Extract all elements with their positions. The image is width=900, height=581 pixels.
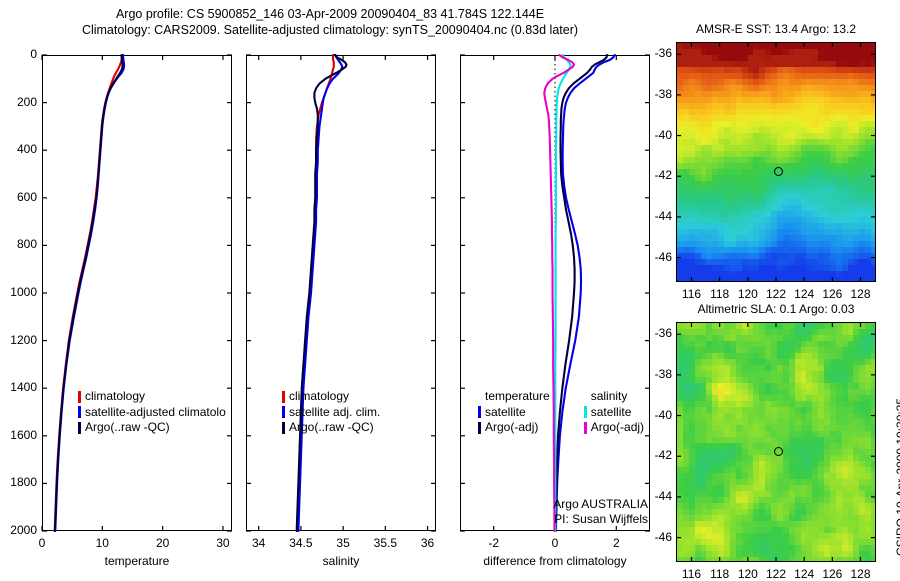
- xaxis-label-difference: difference from climatology: [460, 554, 650, 568]
- argo-float-marker-sst: [774, 167, 783, 176]
- xtick-salinity-2: 35: [336, 536, 349, 550]
- plot-frame-temperature: [42, 55, 232, 531]
- legend-label: satellite: [591, 405, 632, 421]
- figure-title: Argo profile: CS 5900852_146 03-Apr-2009…: [0, 6, 660, 38]
- map-xtick-sst-4: 124: [794, 287, 814, 301]
- map-xtick-sla-5: 126: [822, 567, 842, 581]
- argo-profile-figure: Argo profile: CS 5900852_146 03-Apr-2009…: [0, 0, 900, 580]
- map-xtick-sst-2: 120: [738, 287, 758, 301]
- map-xtick-sst-0: 116: [682, 287, 701, 301]
- xtick-salinity-4: 36: [421, 536, 434, 550]
- map-xtick-sst-5: 126: [822, 287, 842, 301]
- legend-label: satellite adj. clim.: [289, 405, 380, 421]
- xtick-difference-2: 2: [613, 536, 620, 550]
- map-ytick-sla-0: -36: [644, 326, 672, 340]
- xaxis-label-salinity: salinity: [246, 554, 436, 568]
- legend-entry-difference-2-0: satellite: [584, 405, 644, 421]
- legend-entry-temperature-0: climatology: [78, 389, 226, 405]
- map-xtick-sla-4: 124: [794, 567, 814, 581]
- legend-entry-salinity-0: climatology: [282, 389, 380, 405]
- legend-swatch-icon: [478, 422, 481, 434]
- xtick-difference-1: 0: [552, 536, 559, 550]
- legend-entry-temperature-1: satellite-adjusted climatolo: [78, 405, 226, 421]
- map-xtick-sla-1: 118: [710, 567, 729, 581]
- map-xtick-sla-3: 122: [766, 567, 786, 581]
- legend-entry-difference-1-1: Argo(-adj): [478, 420, 550, 436]
- map-ytick-sla-2: -40: [644, 408, 672, 422]
- legend-label: climatology: [289, 389, 349, 405]
- xtick-salinity-1: 34.5: [289, 536, 312, 550]
- legend-swatch-icon: [584, 422, 587, 434]
- map-frame-sst: [676, 42, 876, 282]
- figure-title-line2: Climatology: CARS2009. Satellite-adjuste…: [82, 23, 578, 37]
- ytick-depth-1: 200: [0, 95, 37, 109]
- figure-title-line1: Argo profile: CS 5900852_146 03-Apr-2009…: [116, 7, 544, 21]
- xtick-difference-0: -2: [488, 536, 499, 550]
- xtick-temperature-3: 30: [216, 536, 229, 550]
- heatmap-sst: [677, 43, 875, 281]
- legend-entry-temperature-2: Argo(..raw -QC): [78, 420, 226, 436]
- legend-entry-salinity-2: Argo(..raw -QC): [282, 420, 380, 436]
- ytick-depth-7: 1400: [0, 380, 37, 394]
- csiro-timestamp: CSIRO 10-Apr-2009 10:30:35: [894, 398, 900, 556]
- attribution-line2: PI: Susan Wijffels: [420, 512, 648, 527]
- map-ytick-sla-3: -42: [644, 448, 672, 462]
- ytick-depth-4: 800: [0, 237, 37, 251]
- ytick-depth-2: 400: [0, 142, 37, 156]
- ytick-depth-10: 2000: [0, 523, 37, 537]
- attribution-line1: Argo AUSTRALIA: [420, 497, 648, 512]
- xtick-temperature-2: 20: [156, 536, 169, 550]
- map-xtick-sla-6: 128: [850, 567, 870, 581]
- legend-swatch-icon: [78, 406, 81, 418]
- xtick-salinity-0: 34: [252, 536, 265, 550]
- legend-swatch-icon: [478, 406, 481, 418]
- legend-label: Argo(-adj): [591, 420, 644, 436]
- xaxis-label-temperature: temperature: [42, 554, 232, 568]
- map-ytick-sst-5: -46: [644, 250, 672, 264]
- map-xtick-sla-0: 116: [682, 567, 701, 581]
- legend-swatch-icon: [78, 422, 81, 434]
- legend-label: Argo(..raw -QC): [85, 420, 170, 436]
- map-ytick-sst-2: -40: [644, 128, 672, 142]
- legend-swatch-icon: [584, 406, 587, 418]
- legend-swatch-icon: [78, 391, 81, 403]
- legend-column-1: temperaturesatelliteArgo(-adj): [478, 389, 550, 436]
- map-ytick-sst-4: -44: [644, 209, 672, 223]
- legend-label: Argo(-adj): [485, 420, 538, 436]
- legend-header-2: salinity: [584, 389, 644, 405]
- legend-swatch-icon: [282, 422, 285, 434]
- legend-column-2: salinitysatelliteArgo(-adj): [584, 389, 644, 436]
- map-xtick-sst-3: 122: [766, 287, 786, 301]
- attribution: Argo AUSTRALIAPI: Susan Wijffels: [420, 497, 648, 527]
- map-ytick-sst-0: -36: [644, 46, 672, 60]
- map-ytick-sla-4: -44: [644, 489, 672, 503]
- legend-salinity: climatologysatellite adj. clim.Argo(..ra…: [282, 389, 380, 436]
- legend-label: satellite-adjusted climatolo: [85, 405, 226, 421]
- map-title-sla: Altimetric SLA: 0.1 Argo: 0.03: [616, 302, 900, 316]
- map-frame-sla: [676, 322, 876, 562]
- legend-label: satellite: [485, 405, 526, 421]
- map-ytick-sla-1: -38: [644, 367, 672, 381]
- legend-difference: temperaturesatelliteArgo(-adj)salinitysa…: [478, 389, 644, 436]
- legend-entry-difference-2-1: Argo(-adj): [584, 420, 644, 436]
- map-xtick-sst-1: 118: [710, 287, 729, 301]
- heatmap-sla: [677, 323, 875, 561]
- legend-swatch-icon: [282, 391, 285, 403]
- map-xtick-sla-2: 120: [738, 567, 758, 581]
- legend-label: climatology: [85, 389, 145, 405]
- ytick-depth-8: 1600: [0, 428, 37, 442]
- xtick-salinity-3: 35.5: [374, 536, 397, 550]
- legend-entry-salinity-1: satellite adj. clim.: [282, 405, 380, 421]
- ytick-depth-6: 1200: [0, 333, 37, 347]
- ytick-depth-3: 600: [0, 190, 37, 204]
- plot-frame-salinity: [246, 55, 436, 531]
- legend-entry-difference-1-0: satellite: [478, 405, 550, 421]
- argo-float-marker-sla: [774, 447, 783, 456]
- xtick-temperature-1: 10: [96, 536, 109, 550]
- ytick-depth-9: 1800: [0, 475, 37, 489]
- ytick-depth-0: 0: [0, 47, 37, 61]
- legend-swatch-icon: [282, 406, 285, 418]
- map-ytick-sst-3: -42: [644, 168, 672, 182]
- legend-temperature: climatologysatellite-adjusted climatoloA…: [78, 389, 226, 436]
- legend-header-1: temperature: [478, 389, 550, 405]
- xtick-temperature-0: 0: [39, 536, 46, 550]
- map-ytick-sst-1: -38: [644, 87, 672, 101]
- map-ytick-sla-5: -46: [644, 530, 672, 544]
- plot-frame-difference: [460, 55, 650, 531]
- ytick-depth-5: 1000: [0, 285, 37, 299]
- map-xtick-sst-6: 128: [850, 287, 870, 301]
- map-title-sst: AMSR-E SST: 13.4 Argo: 13.2: [616, 22, 900, 36]
- legend-label: Argo(..raw -QC): [289, 420, 374, 436]
